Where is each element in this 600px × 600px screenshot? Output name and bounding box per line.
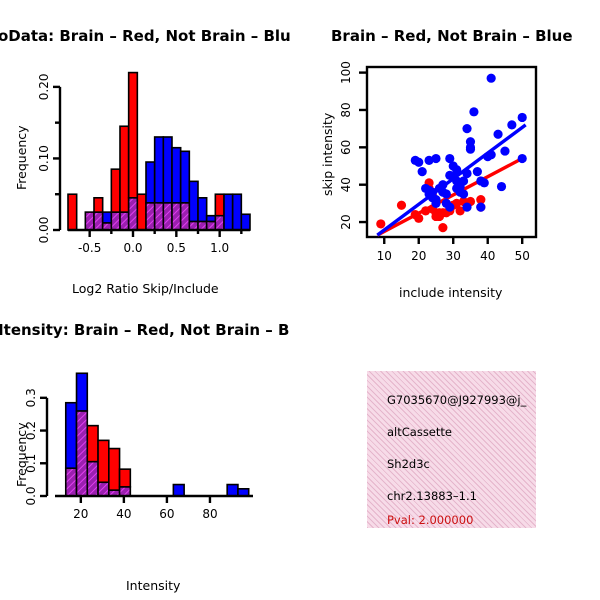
infobox-line-gene: Sh2d3c [387, 457, 430, 471]
hist-ratio-title: RatioData: Brain – Red, Not Brain – Blu [0, 27, 291, 45]
svg-text:-0.5: -0.5 [78, 241, 101, 255]
hist-intensity-panel: 204060800.00.10.20.3 [0, 350, 300, 550]
scatter-panel: 102030405020406080100 [300, 55, 600, 255]
svg-text:50: 50 [515, 249, 530, 263]
svg-text:0.10: 0.10 [37, 145, 51, 172]
hist-ratio-plot: -0.50.00.51.00.000.100.20 [0, 55, 300, 255]
infobox-line-type: altCassette [387, 425, 452, 439]
svg-text:40: 40 [116, 507, 131, 521]
hist-intensity-ylabel: Frequency [14, 422, 29, 487]
svg-text:0.0: 0.0 [123, 241, 142, 255]
infobox-line-pval: Pval: 2.000000 [387, 513, 473, 527]
infobox-line-locus: chr2.13883–1.1 [387, 489, 477, 503]
svg-text:20: 20 [73, 507, 88, 521]
svg-text:0.3: 0.3 [24, 388, 38, 407]
scatter-title: Brain – Red, Not Brain – Blue [331, 27, 573, 45]
gene-info-box: G7035670@J927993@j_ altCassette Sh2d3c c… [367, 371, 536, 528]
svg-text:80: 80 [339, 102, 353, 117]
svg-text:0.0: 0.0 [24, 486, 38, 505]
scatter-xlabel: include intensity [399, 285, 502, 300]
svg-text:100: 100 [339, 61, 353, 84]
svg-text:60: 60 [339, 140, 353, 155]
hist-intensity-xlabel: Intensity [126, 578, 180, 593]
scatter-plot: 102030405020406080100 [300, 55, 600, 255]
svg-text:40: 40 [339, 177, 353, 192]
svg-text:60: 60 [159, 507, 174, 521]
hist-ratio-xlabel: Log2 Ratio Skip/Include [72, 281, 219, 296]
svg-text:20: 20 [339, 214, 353, 229]
svg-text:30: 30 [446, 249, 461, 263]
svg-text:40: 40 [480, 249, 495, 263]
svg-text:0.00: 0.00 [37, 217, 51, 244]
hist-intensity-title: ne Itensity: Brain – Red, Not Brain – B [0, 321, 289, 339]
hist-intensity-plot: 204060800.00.10.20.3 [0, 350, 300, 550]
svg-text:1.0: 1.0 [210, 241, 229, 255]
svg-text:0.5: 0.5 [167, 241, 186, 255]
svg-text:10: 10 [377, 249, 392, 263]
hist-ratio-ylabel: Frequency [14, 125, 29, 190]
hist-ratio-panel: -0.50.00.51.00.000.100.20 [0, 55, 300, 255]
svg-text:0.20: 0.20 [37, 74, 51, 101]
svg-text:80: 80 [202, 507, 217, 521]
svg-text:20: 20 [411, 249, 426, 263]
infobox-line-id: G7035670@J927993@j_ [387, 393, 526, 407]
scatter-ylabel: skip intensity [320, 113, 335, 196]
